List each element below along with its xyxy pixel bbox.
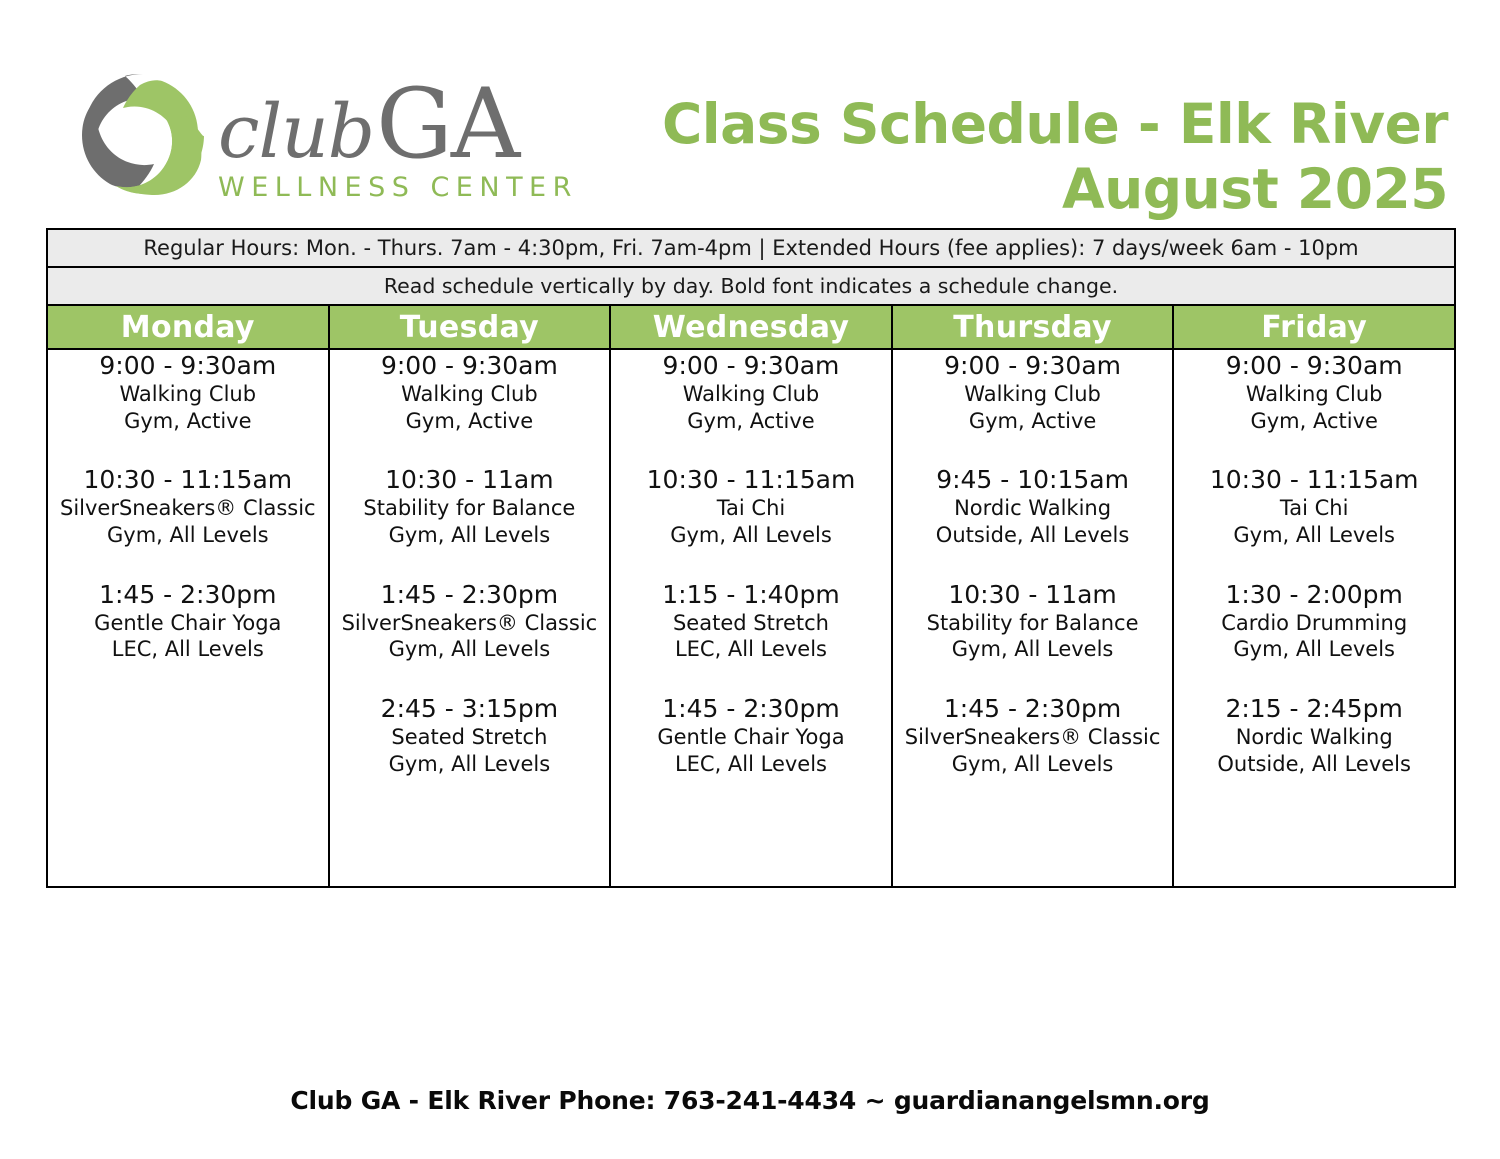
class-location: LEC, All Levels [48, 636, 328, 663]
class-location: Gym, All Levels [330, 636, 610, 663]
class-time: 1:45 - 2:30pm [330, 579, 610, 610]
day-header-wednesday: Wednesday [610, 305, 892, 349]
day-header-friday: Friday [1173, 305, 1455, 349]
class-name: Walking Club [893, 381, 1173, 408]
class-time: 2:45 - 3:15pm [330, 693, 610, 724]
class-time: 9:45 - 10:15am [893, 464, 1173, 495]
class-time: 1:30 - 2:00pm [1174, 579, 1454, 610]
class-entry: 9:00 - 9:30amWalking ClubGym, Active [48, 350, 328, 434]
page-title-line-1: Class Schedule - Elk River [662, 92, 1448, 157]
class-entry: 10:30 - 11:15amSilverSneakers® ClassicGy… [48, 464, 328, 548]
class-time: 10:30 - 11:15am [611, 464, 891, 495]
class-name: Seated Stretch [611, 610, 891, 637]
class-location: Gym, Active [1174, 408, 1454, 435]
class-time: 10:30 - 11am [893, 579, 1173, 610]
class-name: Tai Chi [611, 495, 891, 522]
class-name: SilverSneakers® Classic [330, 610, 610, 637]
class-schedule-table: Regular Hours: Mon. - Thurs. 7am - 4:30p… [46, 228, 1456, 888]
class-time: 2:15 - 2:45pm [1174, 693, 1454, 724]
class-name: Walking Club [1174, 381, 1454, 408]
class-location: Gym, Active [611, 408, 891, 435]
class-location: Gym, Active [893, 408, 1173, 435]
class-name: Cardio Drumming [1174, 610, 1454, 637]
class-name: Nordic Walking [893, 495, 1173, 522]
class-entry: 10:30 - 11:15amTai ChiGym, All Levels [1174, 464, 1454, 548]
class-name: Walking Club [48, 381, 328, 408]
class-location: Gym, All Levels [330, 522, 610, 549]
class-entry: 9:00 - 9:30amWalking ClubGym, Active [330, 350, 610, 434]
page-title: Class Schedule - Elk River August 2025 [662, 92, 1448, 222]
note-banner-row: Read schedule vertically by day. Bold fo… [47, 267, 1455, 305]
class-entry: 9:45 - 10:15amNordic WalkingOutside, All… [893, 464, 1173, 548]
class-location: Gym, Active [330, 408, 610, 435]
regular-hours-banner: Regular Hours: Mon. - Thurs. 7am - 4:30p… [47, 229, 1455, 267]
class-location: Gym, All Levels [1174, 522, 1454, 549]
class-time: 9:00 - 9:30am [611, 350, 891, 381]
class-location: Gym, All Levels [1174, 636, 1454, 663]
class-entry: 1:15 - 1:40pmSeated StretchLEC, All Leve… [611, 579, 891, 663]
class-time: 10:30 - 11:15am [1174, 464, 1454, 495]
class-name: Nordic Walking [1174, 724, 1454, 751]
class-time: 1:45 - 2:30pm [893, 693, 1173, 724]
brand-logo: club GA WELLNESS CENTER [70, 62, 582, 208]
class-name: Seated Stretch [330, 724, 610, 751]
schedule-note-banner: Read schedule vertically by day. Bold fo… [47, 267, 1455, 305]
class-time: 1:45 - 2:30pm [611, 693, 891, 724]
class-entry: 2:15 - 2:45pmNordic WalkingOutside, All … [1174, 693, 1454, 777]
class-entry: 1:30 - 2:00pmCardio DrummingGym, All Lev… [1174, 579, 1454, 663]
class-time: 9:00 - 9:30am [893, 350, 1173, 381]
footer-contact: Club GA - Elk River Phone: 763-241-4434 … [0, 1086, 1500, 1115]
class-time: 1:15 - 1:40pm [611, 579, 891, 610]
schedule-body-row: 9:00 - 9:30amWalking ClubGym, Active10:3… [47, 349, 1455, 887]
class-location: Gym, All Levels [330, 751, 610, 778]
brand-wordmark: club GA WELLNESS CENTER [218, 76, 582, 203]
class-time: 9:00 - 9:30am [330, 350, 610, 381]
page-title-line-2: August 2025 [662, 157, 1448, 222]
class-name: Stability for Balance [330, 495, 610, 522]
class-entry: 9:00 - 9:30amWalking ClubGym, Active [1174, 350, 1454, 434]
class-name: Gentle Chair Yoga [611, 724, 891, 751]
class-location: LEC, All Levels [611, 751, 891, 778]
class-location: Gym, All Levels [893, 636, 1173, 663]
class-location: Gym, All Levels [893, 751, 1173, 778]
circular-swirl-logo-icon [70, 62, 216, 208]
class-name: SilverSneakers® Classic [893, 724, 1173, 751]
class-time: 9:00 - 9:30am [1174, 350, 1454, 381]
day-column-monday: 9:00 - 9:30amWalking ClubGym, Active10:3… [47, 349, 329, 887]
class-entry: 9:00 - 9:30amWalking ClubGym, Active [893, 350, 1173, 434]
day-header-monday: Monday [47, 305, 329, 349]
class-name: Stability for Balance [893, 610, 1173, 637]
class-location: Outside, All Levels [1174, 751, 1454, 778]
day-column-thursday: 9:00 - 9:30amWalking ClubGym, Active9:45… [892, 349, 1174, 887]
day-header-row: Monday Tuesday Wednesday Thursday Friday [47, 305, 1455, 349]
class-entry: 1:45 - 2:30pmSilverSneakers® ClassicGym,… [893, 693, 1173, 777]
class-location: Gym, All Levels [611, 522, 891, 549]
class-name: Walking Club [330, 381, 610, 408]
day-column-tuesday: 9:00 - 9:30amWalking ClubGym, Active10:3… [329, 349, 611, 887]
class-location: Gym, Active [48, 408, 328, 435]
class-name: Walking Club [611, 381, 891, 408]
page-header: club GA WELLNESS CENTER Class Schedule -… [0, 0, 1500, 222]
class-time: 1:45 - 2:30pm [48, 579, 328, 610]
brand-tagline: WELLNESS CENTER [218, 172, 578, 203]
class-name: Gentle Chair Yoga [48, 610, 328, 637]
class-entry: 10:30 - 11:15amTai ChiGym, All Levels [611, 464, 891, 548]
brand-club-text: club [218, 95, 374, 169]
class-name: Tai Chi [1174, 495, 1454, 522]
class-location: LEC, All Levels [611, 636, 891, 663]
day-header-tuesday: Tuesday [329, 305, 611, 349]
class-entry: 1:45 - 2:30pmGentle Chair YogaLEC, All L… [48, 579, 328, 663]
day-header-thursday: Thursday [892, 305, 1174, 349]
class-time: 10:30 - 11:15am [48, 464, 328, 495]
class-time: 10:30 - 11am [330, 464, 610, 495]
class-location: Outside, All Levels [893, 522, 1173, 549]
brand-ga-text: GA [376, 76, 518, 172]
class-entry: 10:30 - 11amStability for BalanceGym, Al… [330, 464, 610, 548]
hours-banner-row: Regular Hours: Mon. - Thurs. 7am - 4:30p… [47, 229, 1455, 267]
day-column-wednesday: 9:00 - 9:30amWalking ClubGym, Active10:3… [610, 349, 892, 887]
day-column-friday: 9:00 - 9:30amWalking ClubGym, Active10:3… [1173, 349, 1455, 887]
schedule-page: club GA WELLNESS CENTER Class Schedule -… [0, 0, 1500, 1159]
class-name: SilverSneakers® Classic [48, 495, 328, 522]
class-entry: 1:45 - 2:30pmSilverSneakers® ClassicGym,… [330, 579, 610, 663]
class-entry: 9:00 - 9:30amWalking ClubGym, Active [611, 350, 891, 434]
class-entry: 1:45 - 2:30pmGentle Chair YogaLEC, All L… [611, 693, 891, 777]
class-entry: 2:45 - 3:15pmSeated StretchGym, All Leve… [330, 693, 610, 777]
class-time: 9:00 - 9:30am [48, 350, 328, 381]
class-location: Gym, All Levels [48, 522, 328, 549]
class-entry: 10:30 - 11amStability for BalanceGym, Al… [893, 579, 1173, 663]
